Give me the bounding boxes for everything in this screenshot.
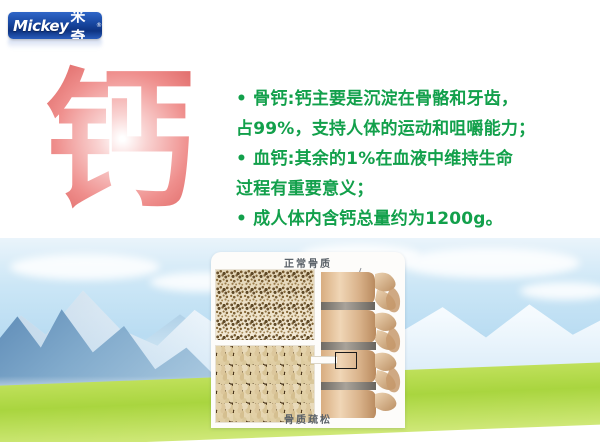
bullet-line: 过程有重要意义； <box>222 174 590 204</box>
lumbar-spine-illustration <box>319 266 405 418</box>
bullet-line: • 血钙:其余的1%在血液中维持生命 <box>222 144 590 174</box>
page-title-calcium-glyph: 钙 <box>34 62 204 222</box>
magnifier-connector <box>311 356 337 364</box>
registered-trademark-icon: ® <box>96 22 102 29</box>
region-of-interest-marker <box>335 352 357 369</box>
bone-density-figure: 正常骨质 <box>211 252 405 428</box>
cloud-shape <box>400 248 580 278</box>
mickey-brand-logo[interactable]: Mickey 米奇 ® <box>8 12 102 39</box>
dense-bone-micrograph <box>215 269 315 343</box>
bullet-line: 占99%，支持人体的运动和咀嚼能力； <box>222 114 590 144</box>
bullet-line: • 成人体内含钙总量约为1200g。 <box>222 204 590 234</box>
cloud-shape <box>520 282 600 300</box>
slide-canvas: Mickey 米奇 ® 钙 • 骨钙:钙主要是沉淀在骨骼和牙齿， 占99%，支持… <box>0 0 600 442</box>
bullet-line: • 骨钙:钙主要是沉淀在骨骼和牙齿， <box>222 84 590 114</box>
bullet-text-block: • 骨钙:钙主要是沉淀在骨骼和牙齿， 占99%，支持人体的运动和咀嚼能力； • … <box>222 84 590 234</box>
logo-text-chinese: 米奇 <box>70 12 95 39</box>
logo-text-english: Mickey <box>13 17 68 35</box>
logo-reflection <box>8 39 102 49</box>
figure-footer-osteoporosis: 骨质疏松 <box>211 411 405 426</box>
cloud-shape <box>10 254 160 280</box>
